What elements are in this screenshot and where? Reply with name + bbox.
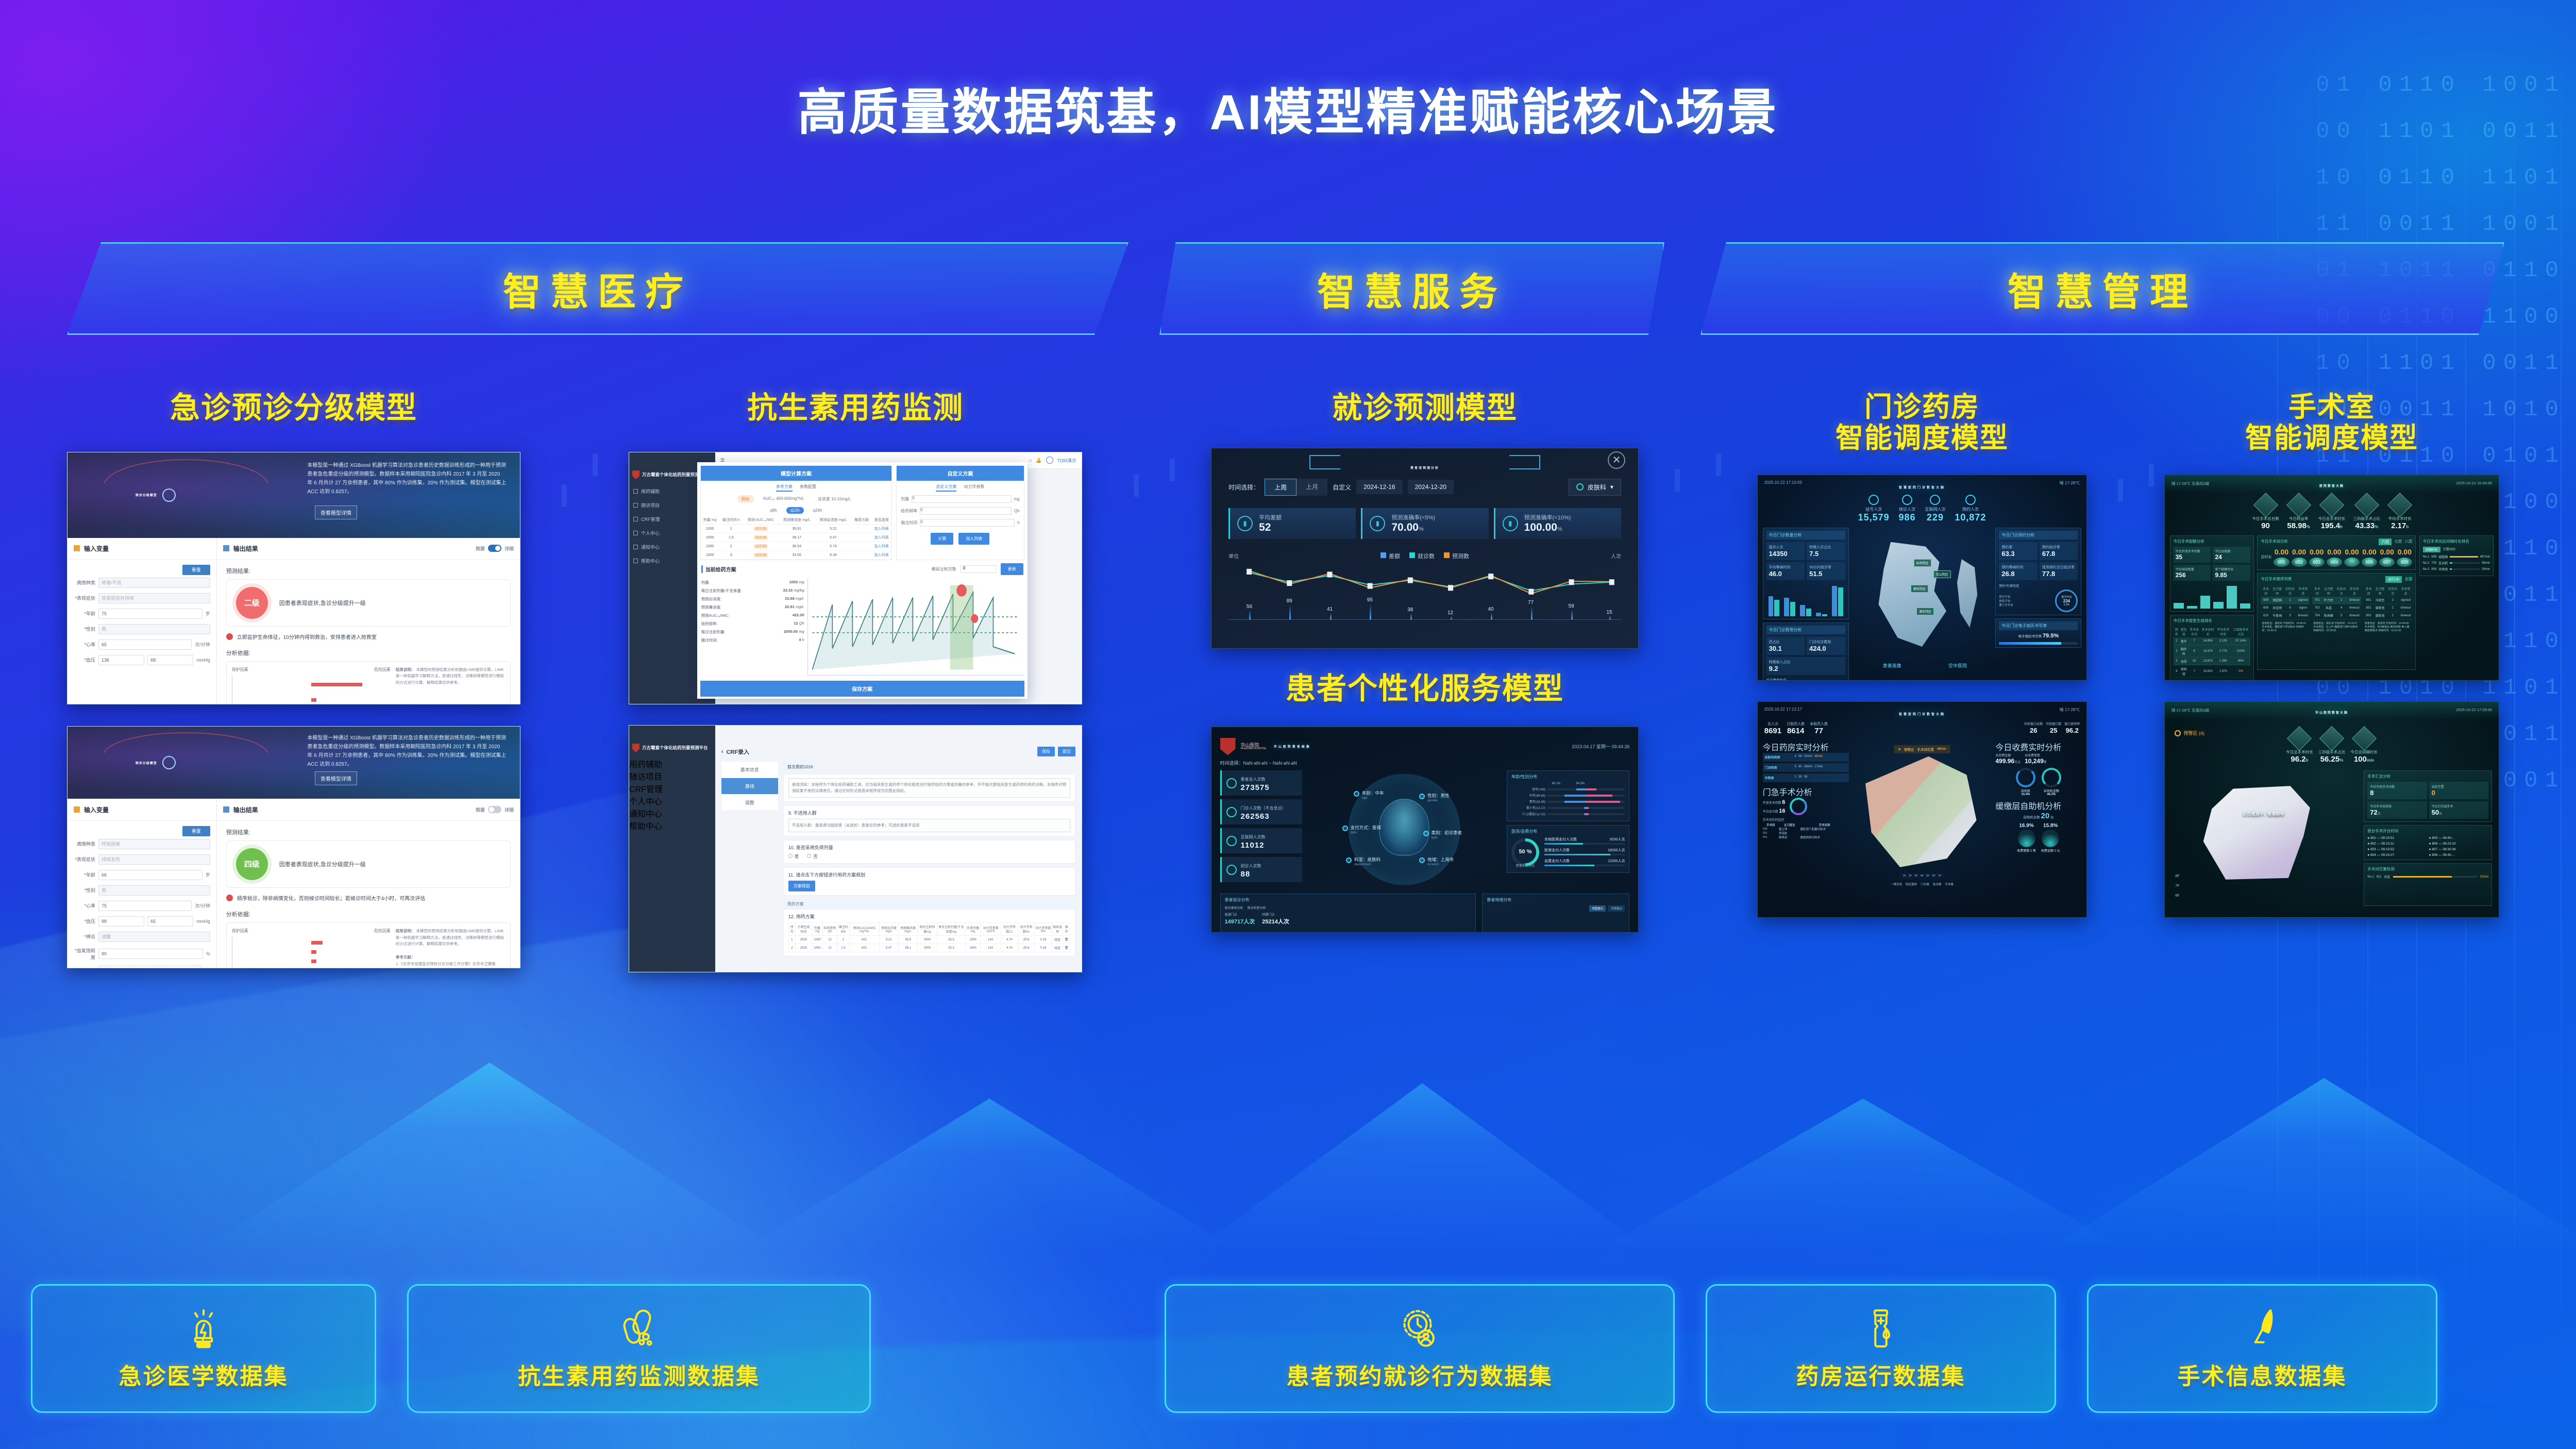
plan-row: 模型计算方案 参考方案 参数配置 目标 AUC₂₄ 400-600mg*h/L … (697, 462, 1028, 563)
kpi-total-surgeries: 今日手术总台数90 (2252, 496, 2279, 530)
category-banner-smart-service[interactable]: 智慧服务 (1159, 242, 1664, 335)
app-sidebar: 万古霉素个体化给药剂量预测平台 用药辅助 随访项目 CRF管理 个人中心 通知中… (629, 726, 715, 972)
stat-cell: 预约率63.3 (1999, 542, 2038, 560)
box-icon (2352, 726, 2377, 751)
list-tabs[interactable]: 进行中 全部 (2385, 576, 2413, 583)
kiosk-donuts: 16.9%收费笔数 0 笔 15.8%收费金额 0 元 (1995, 823, 2081, 853)
form-field[interactable]: *体温36℃ (68, 963, 216, 968)
app-logo: 万古霉素个体化给药剂量预测平台 (629, 744, 715, 757)
output-panel: 输出结果 简要 详细 预测结果: 四级 因患者表现症状,急诊分级提升一级 (217, 799, 520, 968)
dataset-card-antibiotic[interactable]: 抗生素用药监测数据集 (407, 1284, 871, 1413)
map-view-button[interactable]: 地图展示 (1589, 905, 1606, 912)
view-tabs[interactable]: 一屏总览 院区整体 门诊楼 急诊楼 手术楼 (1891, 882, 1954, 886)
section-tag: 首次用药1016 (783, 763, 817, 771)
right-panels: 今日收费实时分析 总收费金额499.96万元 总收费笔数10,249笔 自助机3… (1995, 740, 2081, 886)
kv-row: 每日注射剂量/千克体重:33.33 mg/kg (701, 586, 804, 595)
bar-chart (1766, 580, 1845, 616)
disclaimer-box: 使用须知：本程序为个体化给药辅助工具，仅为临床医生或药师个体化精准治疗提供给药方… (783, 774, 1075, 802)
weather-info: 晴 17-28℃ (2060, 707, 2080, 713)
custom-field-dose[interactable]: 剂量0mg (897, 493, 1023, 505)
right-panels: 今日门诊预约分析 预约率63.3 预约就诊率67.8 预约等候时间26.8 现场… (1995, 528, 2081, 670)
warning-zone-badge[interactable]: 预警区 (4) (2175, 730, 2204, 736)
table-row: 702朱晶4timeout (2312, 604, 2361, 612)
result-section: 预测结果: 二级 因患者表现症状,急诊分级提升一级 立即监护生命体征，10分钟内… (217, 560, 520, 704)
department-select[interactable]: 皮肤科 ▾ (1569, 479, 1621, 496)
topbar-right: ⌂ 🔔 TDM演示 (1029, 457, 1076, 464)
legend-visits: 就诊数 (1409, 552, 1435, 560)
foot-air-hospital[interactable]: 空中医院 (1948, 662, 1967, 669)
dataset-cards: 急诊医学数据集 抗生素用药监测数据集 患者预约就诊行为数据集 (0, 1284, 2576, 1413)
weather-info: 晴 17-28℃ 东南风3级 (2171, 481, 2209, 486)
list-group: 手术间主刀医师实际台次手术状态 609胡超楠1signout 609吴佳明8si… (2261, 585, 2310, 634)
screenshot-patient-flow-prediction[interactable]: 患者流预测分析 ✕ 时间选择： 上周 上月 自定义 2024-12-16 202… (1211, 448, 1639, 649)
plan-tabs[interactable]: 参考方案 参数配置 (701, 481, 892, 493)
surgery-table: 手术间主刀医生手术名称 206董立坤腹腔镜下胆囊切除术 201李铭胜 201顾琪… (1763, 823, 1849, 839)
radio-yes[interactable]: 是 (788, 853, 799, 860)
app-body: 输入变量 重置 病情种类疼痛/不适 *表现症状突发症状并持续 *年龄75岁 *性… (68, 538, 520, 704)
shanghai-map[interactable]: 虹桥院区 宝山院区 静安院区 浦东院区 患者画像 空中医院 (1852, 528, 1992, 670)
custom-label: 自定义 (1333, 483, 1351, 492)
column-visit-prediction: 就诊预测模型 患者流预测分析 ✕ 时间选择： 上周 上月 自定义 2024-12… (1211, 392, 1639, 933)
column-operating-room: 手术室 智能调度模型 晴 17-28℃ 东南风3级 医院数智大脑 2025-10… (2164, 392, 2499, 918)
panel-idle-detection: 手术间空置检测 No.1 811 待定 20min (2364, 863, 2492, 906)
interval-tabs[interactable]: 间隔时长 空置时间 (2423, 547, 2490, 552)
table-header-row: 序号方案生成时间 剂量mg给药频率Qh 输注时间h预测AUC24/MIC mg*… (788, 923, 1070, 936)
left-panels: 今日药房实时分析 皮肤科药房45815min48min 门诊药房56018min… (1763, 740, 1849, 886)
dataset-card-pharmacy[interactable]: 药房运行数据集 (1706, 1284, 2056, 1413)
chart-legend: 差额 就诊数 预测数 (1228, 552, 1621, 560)
map-pin[interactable]: 宝山院区 (1933, 570, 1951, 578)
date-from-input[interactable]: 2024-12-16 (1356, 480, 1402, 494)
custom-field-frequency[interactable]: 给药频率0Qh (897, 505, 1023, 517)
sidebar-item-help[interactable]: 帮助中心 (629, 819, 715, 832)
kv-row: 预测谷浓度:10.88 mg/L (701, 595, 804, 603)
kv-row: 预测峰浓度:22.81 mg/L (701, 603, 804, 611)
date-to-input[interactable]: 2024-12-20 (1408, 480, 1454, 494)
foot-patient-portrait[interactable]: 患者画像 (1883, 662, 1901, 669)
table-row: 704陈炳峰5timeout (2312, 612, 2361, 619)
custom-field-infusion[interactable]: 输注时间0h (897, 517, 1023, 529)
table-row: 701叶力民1timeout (2312, 597, 2361, 604)
first-row: ● 804 — 09:24:27 (2367, 853, 2427, 857)
map-pin[interactable]: 虹桥院区 (1914, 559, 1931, 567)
stat-grid: 接诊人次14350 特需人次占比7.5 平均等候时间46.0 30分内就诊率51… (1766, 542, 1845, 580)
file-icon (633, 517, 638, 521)
screenshot-vancomycin-dosing[interactable]: 万古霉素个体化给药剂量预测平台 用药辅助 随访项目 CRF管理 个人中心 通知中… (629, 452, 1082, 704)
dataset-label: 手术信息数据集 (2178, 1358, 2347, 1391)
category-banner-smart-management[interactable]: 智慧管理 (1701, 242, 2504, 335)
dashboard-title: 智慧医院门诊数智大脑 (1758, 485, 2086, 490)
kv-row: 输注时间:4 h (701, 636, 804, 644)
kpi-waiting: 候诊人次986 (1899, 495, 1916, 523)
chart-icon (1226, 807, 1237, 817)
first-row: ● 802 — 09:13:11 (2367, 842, 2427, 846)
dashboard-datetime: 2025.10.22 17:12:17 (1764, 707, 1802, 712)
triage-level-badge: 四级 (236, 848, 268, 880)
right-column: 年龄/性别分布 45.1% 54.9% 老年(>69) 中年(46-69) 青年… (1507, 770, 1629, 894)
page-title: 高质量数据筑基，AI模型精准赋能核心场景 (0, 72, 2576, 144)
stat-cell: 特需收入占比9.2 (1766, 657, 1845, 675)
calculate-button[interactable]: 计算 (931, 533, 953, 545)
screenshot-or-floorplan[interactable]: 晴 17-28℃ 东南风3级 华山医院数智大脑 2025-10-22 17:29… (2164, 701, 2499, 918)
dot-icon (1576, 483, 1584, 491)
output-icon (223, 806, 229, 813)
lime-bars (232, 676, 391, 704)
panel-pharmacy-realtime: 今日药房实时分析 皮肤科药房45815min48min 门诊药房56018min… (1763, 740, 1849, 782)
reset-button[interactable]: 重置 (182, 565, 210, 575)
dashboard-title: 智慧医院门诊数智大脑 (1758, 712, 2086, 716)
crf-panel: ‹ CRF录入 保存 提交 基本信息 基线 调整 首次用药1016 (715, 742, 1082, 972)
screenshot-or-digital-brain[interactable]: 晴 17-28℃ 东南风3级 医院数智大脑 2025-10-22 16:43:0… (2164, 475, 2499, 681)
dataset-card-emergency[interactable]: 急诊医学数据集 (31, 1284, 376, 1413)
stat-cell: 药占比30.1 (1766, 637, 1805, 655)
or-rooms: 总时长 0.00601 0.00602 0.00603 0.00604 0.00… (2261, 548, 2412, 567)
legend-predicted: 预测数 (1444, 552, 1469, 560)
first-row: ● 803 — 09:10:52 (2367, 848, 2427, 851)
table-header-row: 排名医生组 手术总台次手术总时长 平均手术时长三四级手术占比 (2174, 626, 2250, 637)
form-field[interactable]: *年龄75岁 (68, 606, 216, 621)
floor-selector[interactable]: 8F 7F 6F (2175, 874, 2179, 898)
table-row: 1普外714.85h2.12h57.14% (2174, 637, 2250, 645)
stat-internet: 互联网人次数11012 (1220, 828, 1302, 853)
kpi-total-duration: 今日总手术时长96.2h (2286, 730, 2313, 764)
dataset-label: 急诊医学数据集 (119, 1358, 289, 1391)
form-field[interactable]: *性别男 (68, 621, 216, 637)
dashboard-header: 华山医院 HUASHAN HOSPITAL 华山医院患者画像 2023.04.1… (1211, 727, 1638, 760)
stat-first-visit: 初诊人次数88 (1220, 857, 1302, 882)
model-columns: 急诊预诊分级模型 预诊分级模型 本模型是一种通过 XGBoost 机器学习算法对… (0, 392, 2576, 1000)
stat-cell: 现场预约当日就诊率77.8 (2040, 562, 2078, 580)
form-field[interactable]: *表现症状突发症状并持续 (68, 591, 216, 606)
detail-toggle[interactable]: 简要 详细 (476, 545, 514, 552)
step-basic-info[interactable]: 基本信息 (721, 762, 778, 778)
form-field[interactable]: *血压9865mmHg (68, 914, 216, 929)
table-row: 10003422.0033.556.34加入列表 (701, 551, 892, 560)
back-icon[interactable]: ‹ (721, 749, 723, 755)
kpi-total-interval: 今日总间隔时长100min (2350, 730, 2378, 764)
plan-summary: 剂量:1000 mg 每日注射剂量/千克体重:33.33 mg/kg 预测谷浓度… (701, 578, 804, 676)
concentration-chart (807, 578, 1023, 676)
form-field[interactable]: *神志清醒 (68, 929, 216, 945)
table-header-row: 剂量 mg 输注时间 h 预测 AUC₂₄/MIC 预测峰浓度 mg/L 预测谷… (701, 516, 892, 525)
panel-interval-ranking: 今日手术间总间隔时长排名 间隔时长 空置时间 No.1609胡超楠487min … (2419, 535, 2494, 576)
breadcrumb: ‹ CRF录入 保存 提交 (721, 747, 1075, 756)
plan-chart-area: 剂量:1000 mg 每日注射剂量/千克体重:33.33 mg/kg 预测谷浓度… (697, 575, 1028, 679)
screenshot-crf-entry[interactable]: 万古霉素个体化给药剂量预测平台 用药辅助 随访项目 CRF管理 个人中心 通知中… (629, 725, 1082, 972)
warning-message: 立即监护生命体征，10分钟内得到救治，安排患者进入抢救室 (226, 633, 511, 641)
category-label: 智慧医疗 (503, 261, 693, 316)
lime-chart: 保护因素 危险因素 (232, 928, 391, 968)
panel-surgery-summary: 手术汇总分析 今日开放手术间数8 当前空置0 今日手术总排班72台 今日已完成手… (2364, 770, 2492, 822)
capsule-pill-icon (617, 1306, 661, 1351)
model-description: 本模型是一种通过 XGBoost 机器学习算法对急诊患者历史数据训练形成的一种用… (307, 734, 506, 769)
tag-gender: 性别：男性gender (1427, 793, 1450, 802)
add-to-list-button[interactable]: 加入列表 (958, 533, 989, 545)
window-stats: 药房窗口总数26 开放窗口数25 窗口使用率96.2 (2024, 721, 2080, 735)
sawtooth-plot (808, 578, 1023, 675)
age-row: 老年(>69) (1511, 787, 1625, 791)
user-icon (1226, 865, 1237, 875)
plan-table: 序号方案生成时间 剂量mg给药频率Qh 输注时间h预测AUC24/MIC mg*… (788, 922, 1070, 952)
kpi-level34-ratio: 三四级手术占比43.33% (2353, 496, 2381, 530)
view-model-detail-button[interactable]: 查看模型详情 (315, 771, 357, 785)
heart-icon (2319, 493, 2344, 517)
sidebar-item-followup[interactable]: 随访项目 (629, 770, 715, 782)
form-field[interactable]: *表现症状持续发热 (68, 852, 216, 867)
bell-icon[interactable]: 🔔 (1036, 458, 1041, 463)
model-title-secondary: 患者个性化服务模型 (1211, 672, 1639, 706)
or-room: 0.00606 (2362, 548, 2377, 567)
custom-tabs[interactable]: 自定义方案 动力学参数 (897, 481, 1023, 493)
table-row: 609胡超楠1signout (2261, 597, 2310, 604)
kpi-turnover-rate: 今日转运率58.98% (2287, 496, 2310, 530)
crf-body: 基本信息 基线 调整 首次用药1016 使用须知：本程序为个体化给药辅助工具，仅… (721, 762, 1075, 955)
result-card: 二级 因患者表现症状,急诊分级提升一级 (226, 579, 511, 627)
badge-icon (1902, 495, 1912, 505)
column-antibiotic-monitoring: 抗生素用药监测 万古霉素个体化给药剂量预测平台 用药辅助 随访项目 CRF管理 … (629, 392, 1082, 972)
dashboard-title: 医院数智大脑 (2165, 483, 2499, 488)
or-floorplan-3d[interactable]: 正在速流中，敬请期待 8F 7F 6F (2171, 770, 2359, 906)
panel-quota-analysis: 今日手术配额分析 今日开放手术间数35 今日总配额24 今日排班数量256 单个… (2170, 535, 2254, 612)
map-pin[interactable]: 浦东院区 (1916, 608, 1934, 615)
kpi-accuracy-5: ▮ 预测准确率(<5%) 70.00% (1361, 508, 1488, 539)
list-groups: 手术间主刀医师实际台次手术状态 609胡超楠1signout 609吴佳明8si… (2261, 585, 2412, 634)
dashboard-header: 患者流预测分析 ✕ (1211, 448, 1638, 479)
panel-appointment: 今日门诊预约分析 预约率63.3 预约就诊率67.8 预约等候时间26.8 现场… (1995, 528, 2081, 615)
table-row: 610华鲁闻3timeout (2261, 612, 2310, 619)
form-field[interactable]: *性别男 (68, 883, 216, 898)
question-9: 9. 不适用人群 不适用人群：重度肾功能损害（未透析）患者仅供参考；可透析患者不… (783, 805, 1075, 836)
floorplan-view[interactable]: ⊗ 预警区 手术间空置 48min 1F 2F 3F 4F 5F 6F 7F (1852, 740, 1992, 886)
panel-kiosk: 缓缴层自助机分析 自助机台数 20 台 16.9%收费笔数 0 笔 15.8%收… (1995, 799, 2081, 886)
panel-surgery-list: 今日手术顺序列表 进行中 全部 手术间主刀医师实际台次手术状态 609胡超楠1s… (2257, 573, 2416, 670)
question-12: 12. 用药方案 序号方案生成时间 剂量mg给药频率Qh 输注时间h预测AUC2… (783, 909, 1075, 956)
floor-tabs[interactable]: 六层 七层 八层 (2379, 538, 2412, 545)
transport-icon (2286, 493, 2311, 517)
table-header-row: 手术间主刀医师实际台次手术状态 (2364, 585, 2413, 597)
analysis-label: 分析依据: (226, 649, 511, 657)
kpi-row: 今日总手术时长96.2h 三四级手术占比56.25% 今日总间隔时长100min (2165, 720, 2499, 764)
lime-bars (232, 937, 391, 968)
radio-group[interactable]: 是 否 (788, 853, 1070, 860)
avatar[interactable] (1046, 457, 1053, 464)
kv-row: 预测AUC₂₄/MIC:422.00 (701, 611, 804, 619)
map-pin[interactable]: 静安院区 (1911, 585, 1928, 593)
result-text: 因患者表现症状,急诊分级提升一级 (279, 599, 366, 607)
stat-cell: 接诊人次14350 (1766, 542, 1805, 560)
stat-cell: 平均等候时间46.0 (1766, 562, 1805, 580)
plot-area: 56 89 41 95 38 12 40 77 59 15 (1228, 562, 1621, 620)
input-panel: 输入变量 重置 病情种类呼吸困难 *表现症状持续发热 *年龄66岁 *性别男 *… (68, 799, 217, 968)
update-button[interactable]: 更新 (1001, 563, 1023, 575)
or-room: 0.00603 (2309, 548, 2325, 567)
hospital-name: 华山医院 HUASHAN HOSPITAL (1241, 743, 1267, 751)
toggle-switch[interactable] (488, 806, 501, 813)
form-field[interactable]: *血压13668mmHg (68, 652, 216, 668)
form-field[interactable]: *血氧饱和度90% (68, 945, 216, 963)
dataset-label: 药房运行数据集 (1796, 1358, 1966, 1391)
weather-info: 晴 17-28℃ (2060, 480, 2080, 486)
category-label: 智慧管理 (2008, 261, 2197, 316)
pharmacy-rows: 皮肤科药房45815min48min 门诊药房56018min17min 中药房… (1763, 753, 1849, 782)
step-adjust[interactable]: 调整 (721, 795, 778, 811)
surgery-table: 手术间主刀医师实际台次手术状态 701叶力民1timeout 702朱晶4tim… (2312, 585, 2361, 620)
form-field[interactable]: *心率65次/分钟 (68, 637, 216, 652)
scalpel-icon (2253, 493, 2278, 517)
list-view-button[interactable]: 列表展示 (1608, 905, 1625, 912)
time-segment[interactable]: 上周 上月 (1265, 479, 1327, 496)
floorplan-shape (1850, 745, 1995, 881)
lime-chart: 保护因素 危险因素 (232, 667, 391, 704)
model-title: 抗生素用药监测 (629, 392, 1082, 425)
y-axis-label: 单位 (1228, 552, 1239, 560)
screenshot-outpatient-digital-brain-map[interactable]: 2025.10.22 17:10:55 智慧医院门诊数智大脑 晴 17-28℃ … (1757, 475, 2087, 681)
dataset-card-appointment[interactable]: 患者预约就诊行为数据集 (1165, 1284, 1675, 1413)
view-model-detail-button[interactable]: 查看模型详情 (315, 506, 357, 519)
interval-rows: No.1609胡超楠487min No.2705区启航36min No.3808… (2423, 554, 2490, 571)
gauge-ring (1511, 838, 1539, 866)
table-row: 802裴新宽2timeout (2364, 604, 2413, 612)
payment-gauge: 50 % 医保支付占比 本地医保支付人次数9200人次 医保支付人次数18200… (1511, 837, 1625, 869)
app-body: 输入变量 重置 病情种类呼吸困难 *表现症状持续发热 *年龄66岁 *性别男 *… (68, 799, 520, 968)
custom-plan-panel: 自定义方案 自定义方案 动力学参数 剂量0mg 给药频率0Qh 输注时间0h 计… (896, 465, 1024, 560)
or-room: 0.00604 (2327, 548, 2342, 567)
close-icon[interactable]: ✕ (1608, 451, 1625, 469)
screenshot-triage-result-level2[interactable]: 预诊分级模型 本模型是一种通过 XGBoost 机器学习算法对急诊患者历史数据训… (67, 452, 520, 704)
form-field[interactable]: *年龄66岁 (68, 867, 216, 883)
dosing-plan-modal: 模型计算方案 参考方案 参数配置 目标 AUC₂₄ 400-600mg*h/L … (697, 462, 1028, 699)
table-row: 201顾琪迎腹壁病损切除术 (1763, 835, 1849, 839)
app-title: 预诊分级模型 (136, 488, 176, 502)
segment-last-month[interactable]: 上月 (1297, 479, 1327, 496)
output-panel: 输出结果 简要 详细 预测结果: 二级 因患者表现症状,急诊分级提升一级 (217, 538, 520, 704)
scalpel-icon (2240, 1306, 2284, 1351)
or-room: 0.00 (2344, 548, 2360, 567)
dashboard-title: 患者流预测分析 (1211, 465, 1638, 470)
sidebar-item-notifications[interactable]: 通知中心 (629, 807, 715, 819)
time-select[interactable]: 时间选择：NaN-aN-aN ~ NaN-aN-aN (1211, 760, 1638, 770)
radio-no[interactable]: 否 (807, 853, 818, 860)
table-row: 10001422.0039.915.21加入列表 (701, 525, 892, 533)
alert-icon (226, 633, 233, 640)
dataset-label: 患者预约就诊行为数据集 (1287, 1358, 1553, 1391)
dashboard-body: 正在速流中，敬请期待 8F 7F 6F 手术汇总分析 今日开放手术间数8 当前空… (2165, 764, 2499, 906)
category-banners: 智慧医疗 智慧服务 智慧管理 (0, 242, 2576, 345)
analysis-label: 分析依据: (226, 910, 511, 918)
source-donut: 官方平台 234 2.2% (2055, 589, 2078, 612)
table-row: 201李铭胜 (1763, 831, 1849, 835)
target-info: 目标 AUC₂₄ 400-600mg*h/L 谷浓度 10-15mg/L (701, 493, 892, 505)
dashboard-title: 华山医院数智大脑 (2165, 710, 2499, 715)
submit-button[interactable]: 提交 (1058, 747, 1075, 756)
tools-icon (2354, 493, 2379, 517)
stat-column: 患者总人次数273575 门诊人次数（不含急诊）262563 互联网人次数110… (1220, 770, 1302, 894)
bar-chart-icon: ▮ (1370, 516, 1385, 531)
output-panel-header: 输出结果 简要 详细 (217, 799, 520, 821)
legend-diff: 差额 (1380, 552, 1400, 560)
bar-chart-icon: ▮ (1237, 516, 1253, 531)
panel-room-analysis: 今日手术间分析 六层 七层 八层 总时长 0.00601 0.00602 0.0 (2257, 535, 2416, 570)
dataset-card-surgery[interactable]: 手术信息数据集 (2087, 1284, 2437, 1413)
result-section: 预测结果: 四级 因患者表现症状,急诊分级提升一级 顺序就诊，除非病情变化，否则… (217, 821, 520, 968)
screenshot-triage-result-level4[interactable]: 预诊分级模型 本模型是一种通过 XGBoost 机器学习算法对急诊患者历史数据训… (67, 726, 520, 968)
loading-text: 正在速流中，敬请期待 (2243, 811, 2284, 817)
save-button[interactable]: 保存 (1037, 747, 1055, 756)
step-baseline[interactable]: 基线 (721, 778, 778, 795)
home-icon[interactable]: ⌂ (1029, 458, 1032, 463)
segment-last-week[interactable]: 上周 (1265, 479, 1297, 496)
result-label: 预测结果: (226, 828, 511, 836)
form-field[interactable]: 病情种类疼痛/不适 (68, 575, 216, 591)
tools-icon (2319, 726, 2344, 751)
sidebar-item-crf[interactable]: CRF管理 (629, 782, 715, 795)
first-row: ● 808 — 08:45:... (2429, 853, 2488, 857)
quota-grid: 今日开放手术间数35 今日总配额24 今日排班数量256 单个配额时长9.85 (2174, 547, 2250, 581)
input-panel: 输入变量 重置 病情种类疼痛/不适 *表现症状突发症状并持续 *年龄75岁 *性… (68, 538, 217, 704)
kpi-row: ▮ 平均差额 52 ▮ 预测准确率(<5%) 70.00% ▮ 预测准确率(<1… (1211, 496, 1638, 540)
save-plan-button[interactable]: 保存方案 (700, 681, 1024, 697)
calendar-icon (633, 503, 638, 508)
dashboard-datetime: 2025-10-22 17:29:00 (2456, 707, 2492, 712)
warning-icon (2175, 730, 2181, 736)
panel-emr: 今日门诊电子病历书写率 电子病历书写率 79.5% (1995, 618, 2081, 648)
dashboard-header: 晴 17-28℃ 东南风3级 华山医院数智大脑 2025-10-22 17:29… (2165, 702, 2499, 720)
first-row: ● 807 — 08:30:39 (2429, 848, 2488, 851)
dashboard-datetime: 2025.10.22 17:10:55 (1764, 480, 1802, 485)
screenshot-patient-portrait[interactable]: 华山医院 HUASHAN HOSPITAL 华山医院患者画像 2023.04.1… (1211, 727, 1639, 933)
kv-row: 剂量:1000 mg (701, 578, 804, 586)
toggle-switch[interactable] (488, 545, 501, 552)
crf-form: 首次用药1016 使用须知：本程序为个体化给药辅助工具，仅为临床医生或药师个体化… (783, 762, 1075, 955)
panel-outpatient-volume: 今日门诊数量分析 接诊人次14350 特需人次占比7.5 平均等候时间46.0 … (1763, 528, 1849, 619)
table-row: 206董立坤腹腔镜下胆囊切除术 (1763, 827, 1849, 831)
table-row: 10001.5422.0038.175.47加入列表 (701, 533, 892, 542)
warning-icon: ⊗ (1898, 747, 1900, 751)
medicine-bottle-icon (1859, 1306, 1903, 1351)
tag-age: 年龄：中年age (1362, 790, 1384, 800)
floor-selector[interactable]: 1F 2F 3F 4F 5F 6F 7F (1900, 873, 1945, 879)
alert-icon (226, 895, 233, 901)
stat-total-patients: 患者总人次数273575 (1220, 770, 1302, 796)
plan-button[interactable]: 方案规划 (788, 881, 815, 891)
sidebar-item-medication[interactable]: 用药辅助 (629, 757, 715, 770)
table-row: 609吴佳明8signin (2261, 604, 2310, 612)
reset-button[interactable]: 重置 (182, 826, 210, 836)
bottom-cards: 患者就诊分布 就诊类别分析 就诊科室分析 普通门诊149717人次 特需门诊25… (1211, 894, 1638, 933)
screenshot-pharmacy-floorplan[interactable]: 2025.10.22 17:12:17 智慧医院门诊数智大脑 晴 17-28℃ … (1757, 701, 2087, 918)
crf-steps: 基本信息 基线 调整 (721, 762, 778, 955)
form-field[interactable]: 病情种类呼吸困难 (68, 836, 216, 852)
form-field[interactable]: *心率75次/分钟 (68, 898, 216, 914)
model-badge-icon (162, 488, 176, 502)
left-panels: 今日手术配额分析 今日开放手术间数35 今日总配额24 今日排班数量256 单个… (2170, 535, 2254, 670)
detail-toggle[interactable]: 简要 详细 (476, 806, 514, 813)
sidebar-item-profile[interactable]: 个人中心 (629, 795, 715, 807)
stat-cell: 30分内就诊率51.5 (1807, 562, 1845, 580)
badge-icon (1868, 495, 1879, 505)
age-row: 中年(46-69) (1511, 793, 1625, 798)
dashboard-body: 今日门诊数量分析 接诊人次14350 特需人次占比7.5 平均等候时间46.0 … (1758, 523, 2086, 671)
category-banner-smart-medical[interactable]: 智慧医疗 (67, 242, 1129, 335)
kpi-row: 今日手术总台数90 今日转运率58.98% 今日总手术时长195.4h 三四级手… (2165, 493, 2499, 530)
payment-list: 本地医保支付人次数9200人次 医保支付人次数18200人次 自费支付人次数12… (1544, 837, 1625, 869)
frequency-chips[interactable]: q8h q12h q24h (701, 505, 892, 516)
panel-first-surgery-time: 首台手术开台时间 ● 801 — 09:15:51 ● 805 — 08:40:… (2364, 825, 2492, 860)
stat-outpatient: 门诊人次数（不含急诊）262563 (1220, 799, 1302, 824)
kpi-level34-ratio: 三四级手术占比56.25% (2318, 730, 2346, 764)
age-row: 少儿/婴幼儿(<12) (1511, 812, 1625, 816)
pay-row: 自费支付人次数12200人次 (1544, 858, 1625, 864)
